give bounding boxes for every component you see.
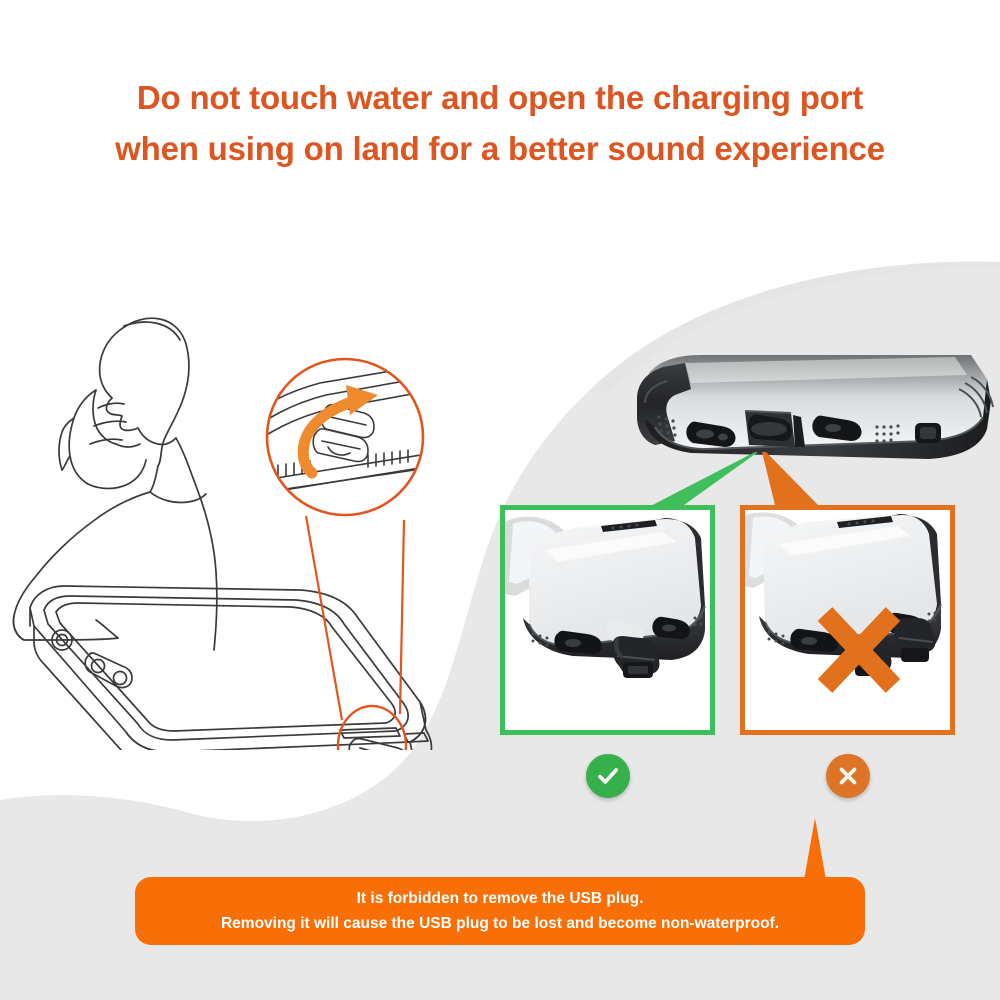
infographic-canvas: Do not touch water and open the charging…	[0, 0, 1000, 1000]
panel-incorrect	[740, 505, 955, 735]
check-icon	[595, 763, 621, 789]
status-badge-incorrect	[826, 754, 870, 798]
panel-correct-image	[505, 510, 710, 730]
charging-port-zoom-circle	[250, 355, 440, 530]
panel-incorrect-image	[745, 510, 950, 730]
warning-banner: It is forbidden to remove the USB plug. …	[135, 877, 865, 945]
status-badge-correct	[586, 754, 630, 798]
panel-correct	[500, 505, 715, 735]
banner-line-2: Removing it will cause the USB plug to b…	[221, 911, 779, 936]
banner-pointer-arrow	[795, 818, 835, 886]
banner-line-1: It is forbidden to remove the USB plug.	[357, 886, 644, 911]
cross-icon	[835, 763, 861, 789]
